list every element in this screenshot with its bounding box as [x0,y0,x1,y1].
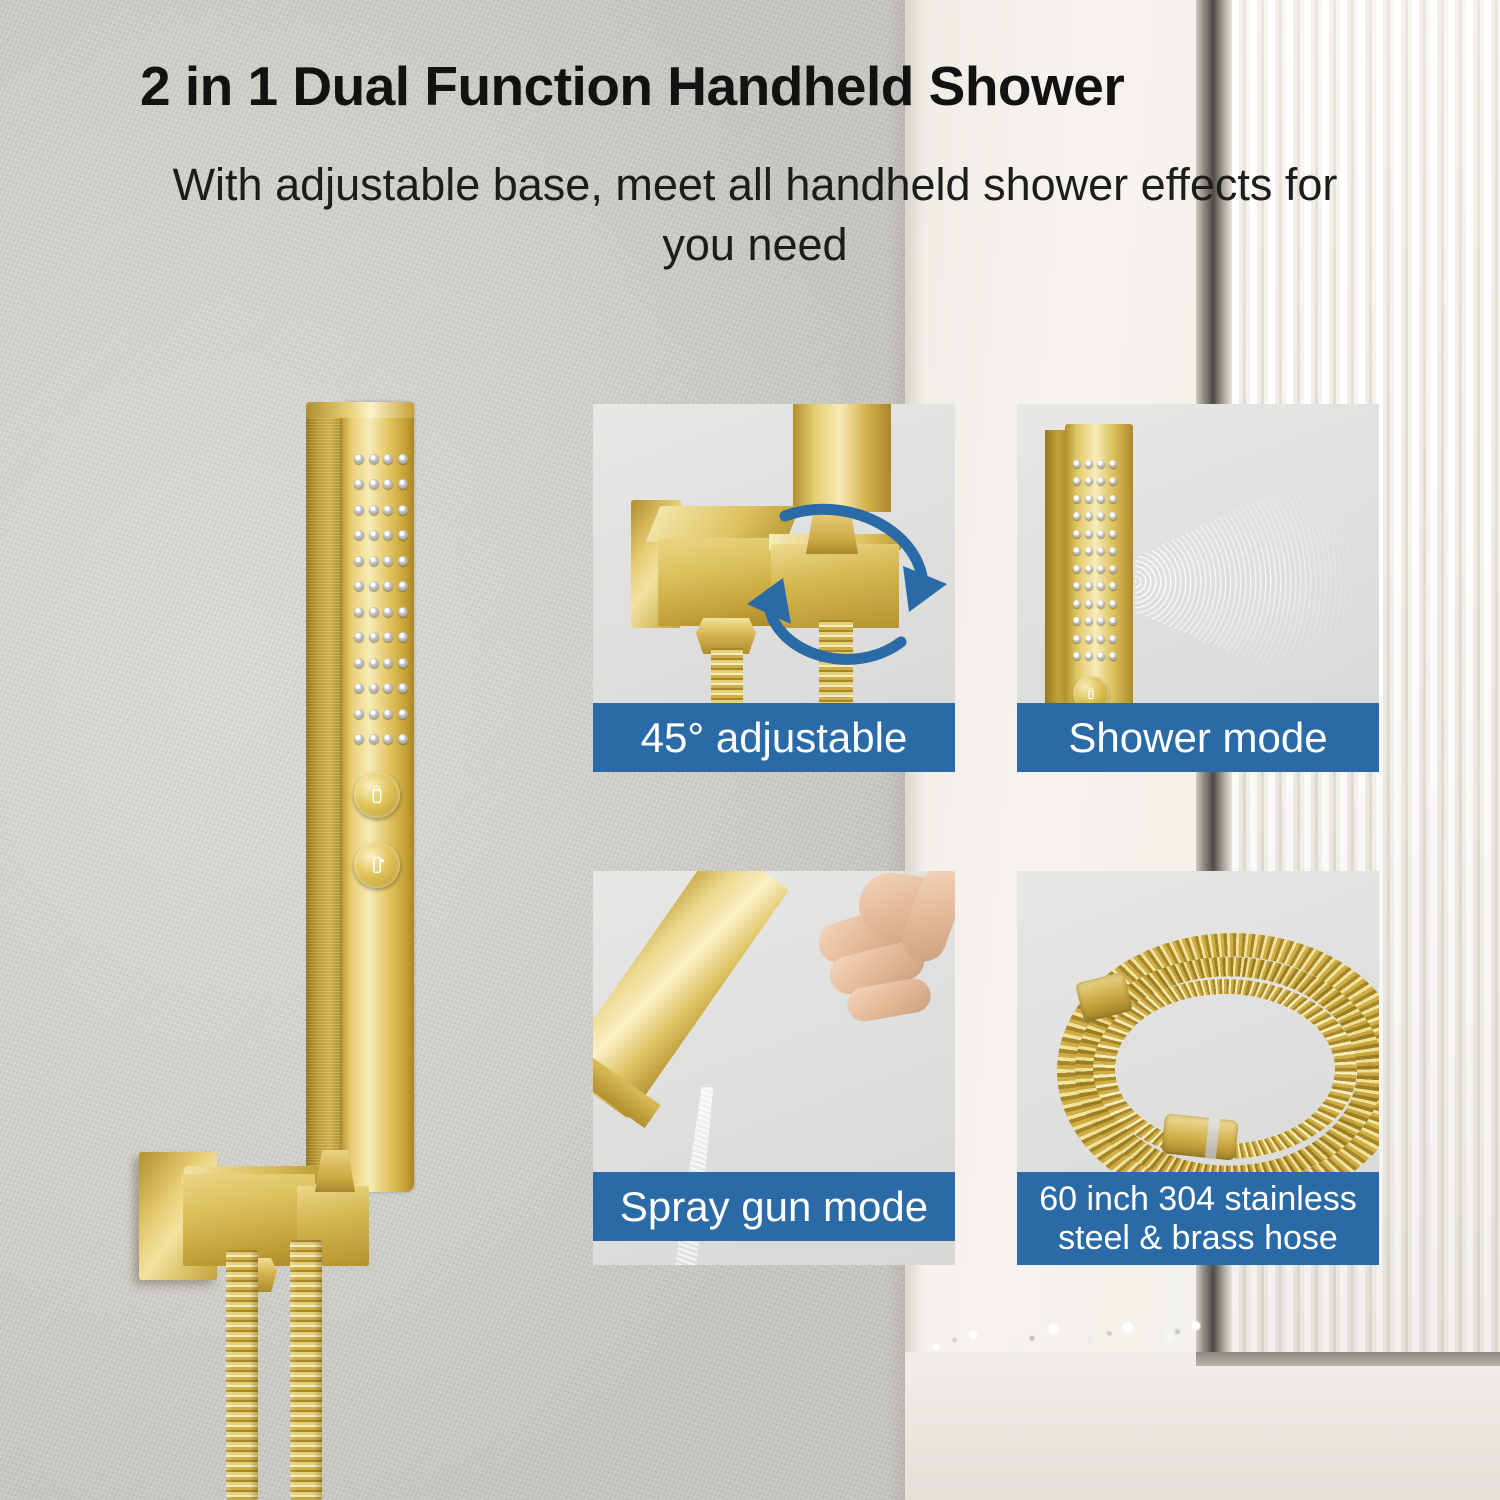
page-subtitle: With adjustable base, meet all handheld … [150,155,1360,275]
label-hose-spec: 60 inch 304 stainless steel & brass hose [1017,1172,1379,1265]
label-shower-mode: Shower mode [1017,703,1379,772]
shower-spray-icon [366,784,388,806]
infographic-canvas: 2 in 1 Dual Function Handheld Shower Wit… [0,0,1500,1500]
shower-spray-icon [1083,686,1099,702]
panel2-nozzle-grid [1073,460,1117,660]
hand-holding-wand [807,871,955,1037]
label-adjustable-base: 45° adjustable [593,703,955,772]
shower-mode-button[interactable] [354,772,400,818]
jet-stream-icon [366,854,388,876]
shower-hose-primary [226,1250,258,1500]
page-title: 2 in 1 Dual Function Handheld Shower [140,58,1370,116]
handheld-shower-wand [306,402,414,1192]
floor-baseboard [1196,1352,1500,1366]
hose-spec-line2: steel & brass hose [1058,1219,1338,1257]
spray-gun-button[interactable] [354,842,400,888]
rotation-arrows-icon [733,488,953,688]
nozzle-grid [354,454,408,744]
bathroom-floor [905,1352,1500,1500]
hose-spec-line1: 60 inch 304 stainless [1039,1180,1357,1218]
shower-hose-secondary [290,1240,322,1500]
hose-fitting-cone [1161,1113,1239,1161]
bracket-cone-joint [315,1150,355,1192]
wand-side-face [306,412,346,1184]
wand-top-cap [306,402,414,418]
water-spray-fan [1135,432,1379,732]
label-spray-gun-mode: Spray gun mode [593,1172,955,1241]
